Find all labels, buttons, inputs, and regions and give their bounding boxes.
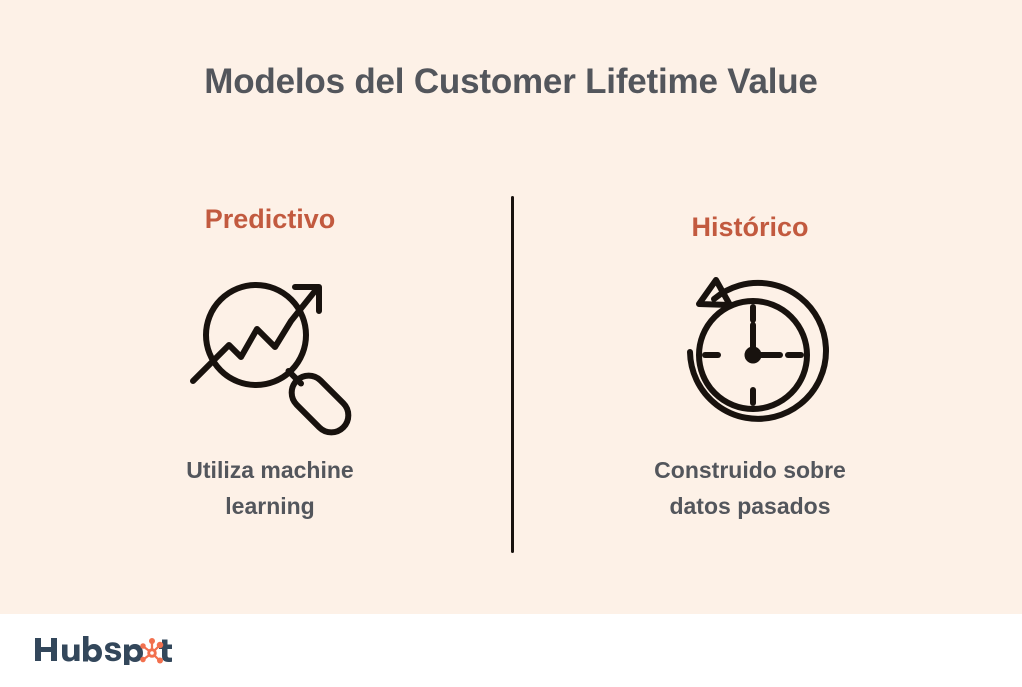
hubspot-logo-svg xyxy=(33,633,173,665)
caption-line: Utiliza machine xyxy=(60,452,480,488)
magnifier-trend-icon xyxy=(60,260,480,440)
magnifier-trend-icon-svg xyxy=(183,263,358,438)
column-heading-predictivo: Predictivo xyxy=(60,204,480,235)
column-heading-historico: Histórico xyxy=(540,212,960,243)
comparison-columns: Predictivo Utiliza machine learning xyxy=(0,190,1022,570)
vertical-divider xyxy=(511,196,514,553)
clock-rewind-icon xyxy=(540,264,960,444)
column-caption-historico: Construido sobre datos pasados xyxy=(540,452,960,525)
caption-line: datos pasados xyxy=(540,488,960,524)
caption-line: Construido sobre xyxy=(540,452,960,488)
column-caption-predictivo: Utiliza machine learning xyxy=(60,452,480,525)
caption-line: learning xyxy=(60,488,480,524)
page-title: Modelos del Customer Lifetime Value xyxy=(0,62,1022,102)
hubspot-logo xyxy=(33,633,173,665)
column-historico: Histórico xyxy=(540,190,960,570)
clock-rewind-icon-svg xyxy=(670,274,830,434)
column-predictivo: Predictivo Utiliza machine learning xyxy=(60,190,480,570)
hubspot-sprocket-icon xyxy=(140,638,163,664)
slide: Modelos del Customer Lifetime Value Pred… xyxy=(0,0,1022,687)
